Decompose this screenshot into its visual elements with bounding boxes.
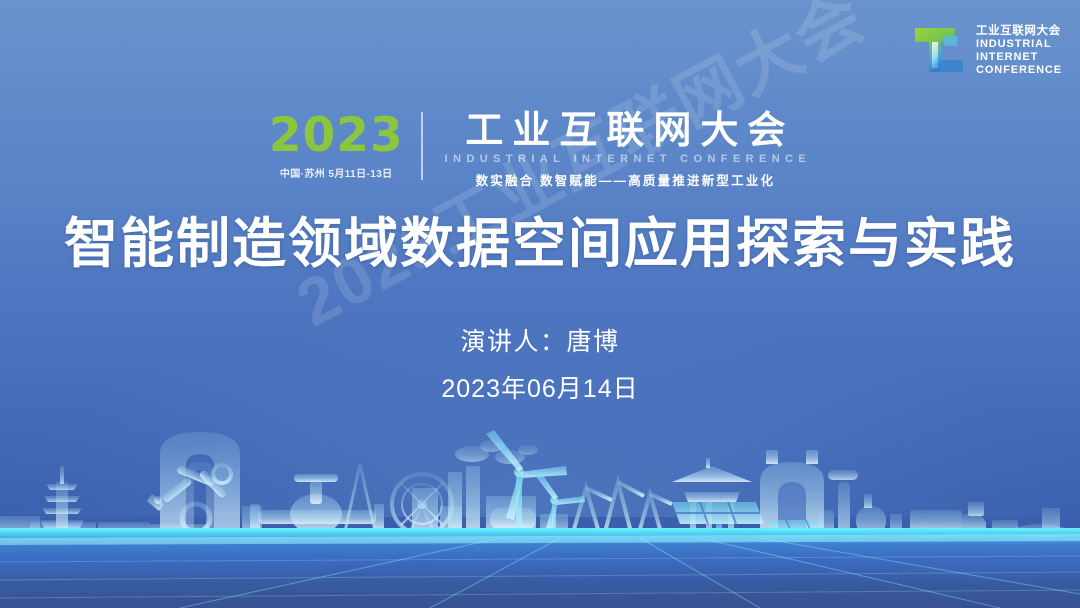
corner-logo-en-3: CONFERENCE xyxy=(976,64,1062,77)
corner-logo-en-2: INTERNET xyxy=(976,51,1062,64)
corner-logo-text: 工业互联网大会 INDUSTRIAL INTERNET CONFERENCE xyxy=(976,25,1062,77)
presentation-date: 2023年06月14日 xyxy=(0,369,1080,405)
conference-year: 2023 xyxy=(269,112,404,159)
conference-t-mark-icon xyxy=(911,22,967,80)
presenter-block: 演讲人：唐博 2023年06月14日 xyxy=(0,322,1080,405)
page-title: 智能制造领域数据空间应用探索与实践 xyxy=(0,199,1080,278)
conference-name-cn: 工业互联网大会 xyxy=(440,112,812,150)
corner-logo-cn: 工业互联网大会 xyxy=(976,25,1062,39)
corner-logo-en-1: INDUSTRIAL xyxy=(976,38,1062,51)
lockup-name-block: 工业互联网大会 INDUSTRIAL INTERNET CONFERENCE 数… xyxy=(423,112,812,189)
presenter-name: 演讲人：唐博 xyxy=(0,322,1080,358)
sky-gradient-background xyxy=(0,0,1080,608)
conference-name-en: INDUSTRIAL INTERNET CONFERENCE xyxy=(440,153,812,165)
ground-perspective-plane xyxy=(0,528,1080,608)
presentation-slide: 2023工业互联网大会 xyxy=(0,0,1080,608)
conference-tagline: 数实融合 数智赋能——高质量推进新型工业化 xyxy=(440,170,812,189)
corner-conference-logo: 工业互联网大会 INDUSTRIAL INTERNET CONFERENCE xyxy=(911,22,1062,80)
conference-lockup: 2023 中国·苏州 5月11日-13日 工业互联网大会 INDUSTRIAL … xyxy=(0,112,1080,189)
lockup-year-block: 2023 中国·苏州 5月11日-13日 xyxy=(269,112,423,180)
conference-place-date: 中国·苏州 5月11日-13日 xyxy=(269,165,404,180)
